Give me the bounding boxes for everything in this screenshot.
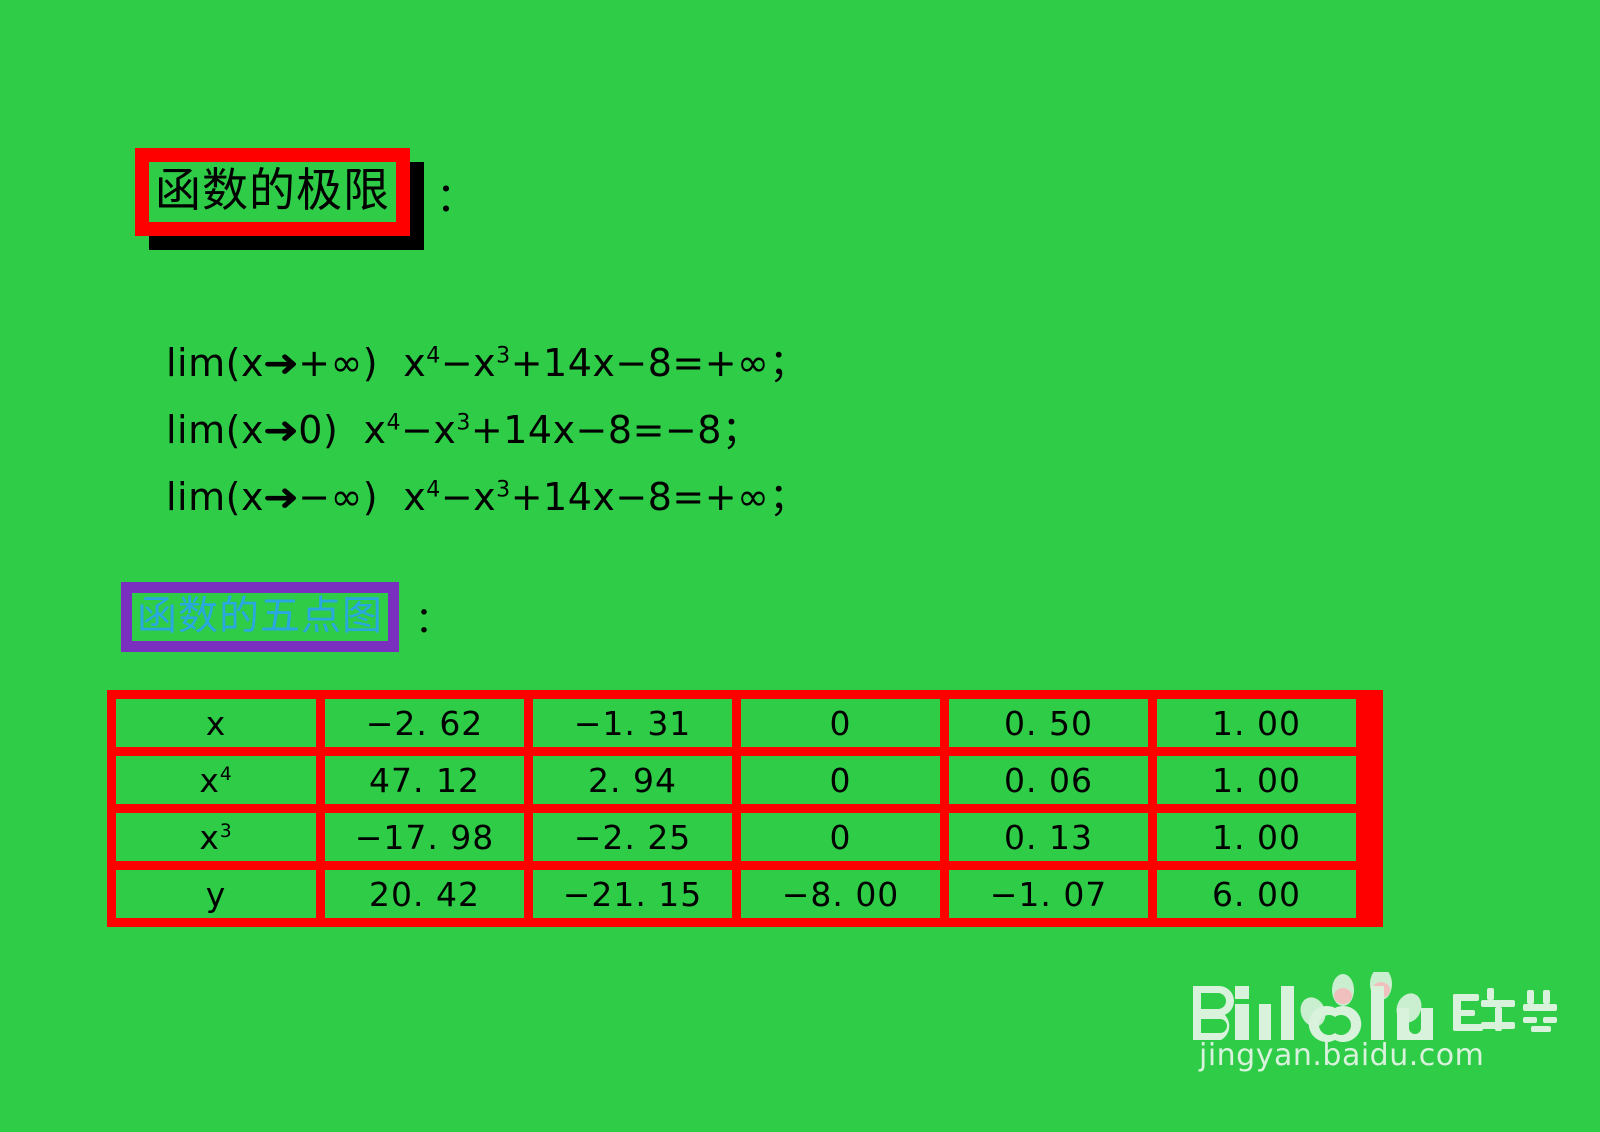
table-cell: −1. 07 xyxy=(949,870,1148,918)
table-body: x −2. 62 −1. 31 0 0. 50 1. 00 x4 47. 12 … xyxy=(116,699,1356,918)
formula-prefix: lim(x xyxy=(166,408,264,452)
formula-expr-tail: +14x−8=+∞ xyxy=(511,475,770,519)
row-label-cell: x3 xyxy=(116,813,316,861)
formula-expr-mid: −x xyxy=(401,408,456,452)
arrow-right-icon: ➜ xyxy=(261,330,300,397)
heading-limit-boxwrap: 函数的极限 xyxy=(135,148,410,236)
arrow-right-icon: ➜ xyxy=(261,397,300,464)
table-cell: −1. 31 xyxy=(533,699,732,747)
formula-line: lim(x➜−∞) x4−x3+14x−8=+∞； xyxy=(166,464,808,531)
five-point-table: x −2. 62 −1. 31 0 0. 50 1. 00 x4 47. 12 … xyxy=(107,690,1365,927)
formula-expr-tail: +14x−8=+∞ xyxy=(511,341,770,385)
five-point-table-wrap: x −2. 62 −1. 31 0 0. 50 1. 00 x4 47. 12 … xyxy=(107,690,1383,927)
formula-expr-base-a: x xyxy=(403,341,426,385)
table-cell: 1. 00 xyxy=(1157,813,1356,861)
row-label-exponent: 4 xyxy=(220,764,233,785)
formula-expr-mid: −x xyxy=(441,475,496,519)
heading-five-point-text: 函数的五点图 xyxy=(137,594,383,638)
formula-prefix: lim(x xyxy=(166,475,264,519)
formula-prefix: lim(x xyxy=(166,341,264,385)
row-label: x xyxy=(199,761,220,800)
table-cell: −21. 15 xyxy=(533,870,732,918)
row-label-cell: y xyxy=(116,870,316,918)
arrow-right-icon: ➜ xyxy=(261,464,300,531)
row-label: x xyxy=(199,818,220,857)
heading-five-point-colon: ： xyxy=(415,591,451,643)
formula-exponent-a: 4 xyxy=(426,477,441,502)
heading-limit-text: 函数的极限 xyxy=(155,164,390,216)
table-cell: 20. 42 xyxy=(325,870,524,918)
table-cell: 0 xyxy=(741,813,940,861)
table-cell: 6. 00 xyxy=(1157,870,1356,918)
table-cell: 0. 50 xyxy=(949,699,1148,747)
table-cell: 0. 13 xyxy=(949,813,1148,861)
baidu-logo-icon xyxy=(1185,972,1585,1044)
row-label-cell: x xyxy=(116,699,316,747)
table-cell: 2. 94 xyxy=(533,756,732,804)
formula-approach: +∞) xyxy=(298,341,378,385)
baidu-jingyan-url: jingyan.baidu.com xyxy=(1199,1038,1484,1073)
formula-line: lim(x➜0) x4−x3+14x−8=−8； xyxy=(166,397,808,464)
heading-five-point-box: 函数的五点图 xyxy=(121,582,399,652)
table-cell: 0 xyxy=(741,699,940,747)
row-label: x xyxy=(206,704,227,743)
baidu-jingyan-watermark: jingyan.baidu.com xyxy=(1185,952,1585,1077)
table-row: y 20. 42 −21. 15 −8. 00 −1. 07 6. 00 xyxy=(116,870,1356,918)
formula-exponent-b: 3 xyxy=(496,477,511,502)
formula-terminator: ； xyxy=(769,341,808,385)
formula-exponent-a: 4 xyxy=(426,343,441,368)
formula-exponent-b: 3 xyxy=(456,410,471,435)
heading-five-point-row: 函数的五点图 ： xyxy=(121,582,451,652)
formula-exponent-a: 4 xyxy=(386,410,401,435)
row-label-exponent: 3 xyxy=(220,821,233,842)
slide-canvas: 函数的极限 ： lim(x➜+∞) x4−x3+14x−8=+∞； lim(x➜… xyxy=(0,0,1600,1132)
table-cell: 47. 12 xyxy=(325,756,524,804)
formula-expr-mid: −x xyxy=(441,341,496,385)
formula-approach: −∞) xyxy=(298,475,378,519)
table-cell: −2. 25 xyxy=(533,813,732,861)
row-label-cell: x4 xyxy=(116,756,316,804)
table-row: x3 −17. 98 −2. 25 0 0. 13 1. 00 xyxy=(116,813,1356,861)
table-row: x −2. 62 −1. 31 0 0. 50 1. 00 xyxy=(116,699,1356,747)
table-cell: −17. 98 xyxy=(325,813,524,861)
formula-expr-tail: +14x−8=−8 xyxy=(471,408,722,452)
row-label: y xyxy=(206,875,227,914)
formula-terminator: ； xyxy=(769,475,808,519)
table-cell: −8. 00 xyxy=(741,870,940,918)
table-cell: 0. 06 xyxy=(949,756,1148,804)
table-cell: 1. 00 xyxy=(1157,756,1356,804)
formula-exponent-b: 3 xyxy=(496,343,511,368)
table-cell: 0 xyxy=(741,756,940,804)
table-cell: −2. 62 xyxy=(325,699,524,747)
heading-limit-row: 函数的极限 ： xyxy=(135,148,476,236)
formula-expr-base-a: x xyxy=(363,408,386,452)
heading-limit-box: 函数的极限 xyxy=(135,148,410,236)
formula-expr-base-a: x xyxy=(403,475,426,519)
table-row: x4 47. 12 2. 94 0 0. 06 1. 00 xyxy=(116,756,1356,804)
formula-approach: 0) xyxy=(298,408,338,452)
heading-limit-colon: ： xyxy=(436,165,476,223)
table-cell: 1. 00 xyxy=(1157,699,1356,747)
formula-list: lim(x➜+∞) x4−x3+14x−8=+∞； lim(x➜0) x4−x3… xyxy=(166,330,808,531)
formula-line: lim(x➜+∞) x4−x3+14x−8=+∞； xyxy=(166,330,808,397)
formula-terminator: ； xyxy=(722,408,761,452)
